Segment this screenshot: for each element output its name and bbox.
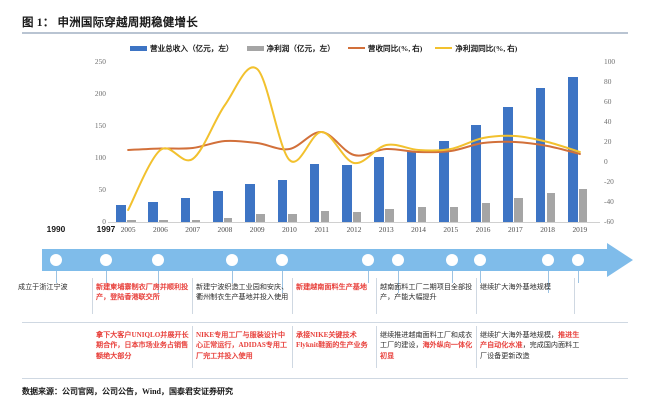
source-note: 数据来源：公司官网，公司公告，Wind，国泰君安证券研究: [22, 386, 233, 397]
event-column-divider: [376, 278, 377, 314]
client-text: 拿下大客户UNIQLO并展开长期合作，日本市场业务占销售额绝大部分: [96, 330, 192, 361]
event-column-divider: [476, 326, 477, 368]
event-column-divider: [92, 278, 93, 314]
event-column-divider: [292, 326, 293, 368]
milestone-text: 越南面料工厂二期项目全部投产，产能大幅提升: [380, 282, 474, 303]
profit-yoy-line: [128, 67, 580, 210]
legend-label: 营业总收入（亿元，左）: [150, 43, 234, 54]
timeline-dot-2007[interactable]: [226, 254, 238, 266]
figure-title: 图 1： 申洲国际穿越周期稳健增长: [22, 14, 198, 30]
milestone-text: 新建柬埔寨制衣厂房并顺利投产，登陆香港联交所: [96, 282, 192, 303]
legend-swatch-icon: [435, 47, 452, 49]
client-text: 继续推进越南面料工厂和成衣工厂的建设，海外纵向一体化初显: [380, 330, 474, 361]
event-column-divider: [376, 326, 377, 368]
timeline-dot-1990[interactable]: [50, 254, 62, 266]
event-column-divider: [192, 326, 193, 368]
event-column-divider: [574, 278, 575, 314]
event-column-divider: [192, 278, 193, 314]
timeline-arrow-icon: [607, 243, 633, 277]
timeline-dot-1997[interactable]: [100, 254, 112, 266]
legend-item-2: 净利润（亿元，左）: [247, 43, 335, 54]
highlight-phrase: 海外纵向一体化初显: [380, 341, 472, 359]
client-text: NIKE专用工厂与服装设计中心正常运行，ADIDAS专用工厂完工并投入使用: [196, 330, 292, 361]
footer-divider: [22, 378, 628, 379]
timeline-dot-2005[interactable]: [152, 254, 164, 266]
milestone-text: 成立于浙江宁波: [18, 282, 92, 292]
timeline-dot-2019[interactable]: [572, 254, 584, 266]
chart-legend: 营业总收入（亿元，左）净利润（亿元，左）营收同比(%, 右)净利润同比(%, 右…: [130, 41, 630, 55]
timeline-dot-2015[interactable]: [446, 254, 458, 266]
event-column-divider: [476, 278, 477, 314]
client-text: 继续扩大海外基地规模，推进生产自动化水准，完成国内面料工厂设备更新改造: [480, 330, 580, 361]
milestone-text: 新建越南面料生产基地: [296, 282, 374, 292]
legend-item-3: 营收同比(%, 右): [348, 43, 422, 54]
chart-plot-area: 050100150200250 100806040200-20-40-60 20…: [0, 58, 650, 240]
event-row-divider: [22, 322, 628, 323]
title-divider: [22, 32, 628, 34]
timeline-dot-2009[interactable]: [276, 254, 288, 266]
legend-label: 净利润（亿元，左）: [267, 43, 335, 54]
timeline-dot-2013[interactable]: [392, 254, 404, 266]
legend-label: 净利润同比(%, 右): [455, 43, 517, 54]
legend-item-4: 净利润同比(%, 右): [435, 43, 517, 54]
timeline-dot-2012[interactable]: [362, 254, 374, 266]
legend-swatch-icon: [130, 46, 147, 51]
legend-item-1: 营业总收入（亿元，左）: [130, 43, 234, 54]
timeline-band: [42, 249, 608, 271]
timeline-stem: [578, 271, 579, 283]
highlight-phrase: 推进生产自动化水准: [480, 331, 579, 349]
yoy-line-layer: [0, 58, 650, 240]
event-column-divider: [292, 278, 293, 314]
timeline-dot-2016[interactable]: [474, 254, 486, 266]
legend-label: 营收同比(%, 右): [368, 43, 422, 54]
client-text: 承接NIKE关键技术Flyknit鞋面的生产业务: [296, 330, 376, 351]
legend-swatch-icon: [247, 46, 264, 51]
milestone-text: 新建宁波织造工业园和安庆、衢州制衣生产基地并投入使用: [196, 282, 292, 303]
legend-swatch-icon: [348, 47, 365, 49]
milestone-text: 继续扩大海外基地规模: [480, 282, 574, 292]
timeline-dot-2018[interactable]: [542, 254, 554, 266]
